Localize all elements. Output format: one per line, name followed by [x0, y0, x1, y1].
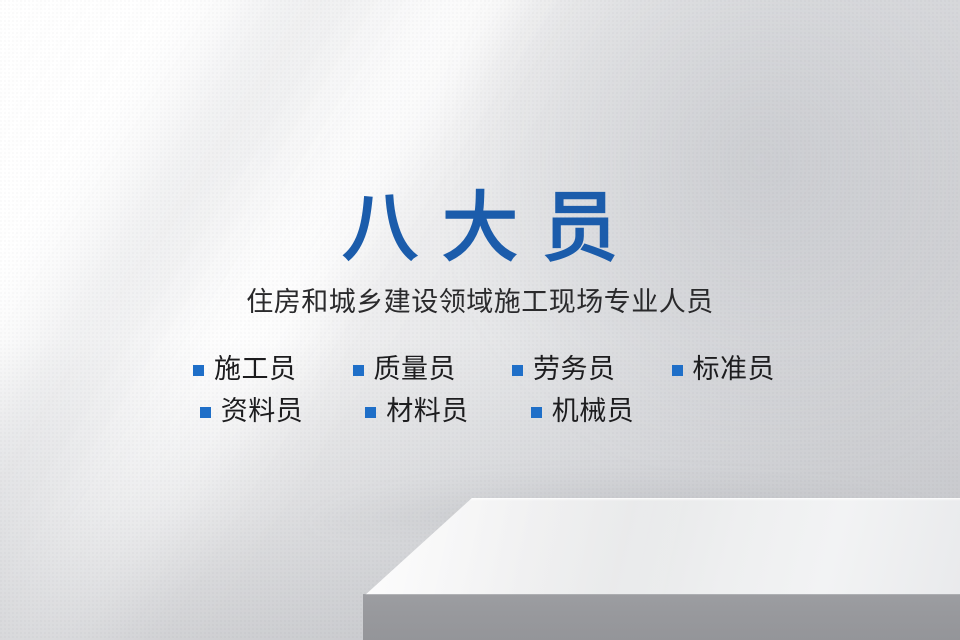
role-label: 资料员 — [221, 398, 304, 425]
role-label: 机械员 — [552, 398, 635, 425]
role-item-biaozhunyuan: 标准员 — [672, 356, 776, 383]
role-label: 施工员 — [214, 356, 297, 383]
role-row-1: 施工员 质量员 劳务员 标准员 — [0, 348, 960, 390]
role-item-zhiliangyuan: 质量员 — [353, 356, 457, 383]
square-bullet-icon — [365, 407, 376, 418]
role-item-jixieyuan: 机械员 — [531, 398, 635, 425]
role-label: 劳务员 — [533, 356, 616, 383]
poster-subtitle: 住房和城乡建设领域施工现场专业人员 — [0, 286, 960, 320]
poster-content: 八大员 住房和城乡建设领域施工现场专业人员 施工员 质量员 劳务员 — [0, 0, 960, 470]
role-item-laowuyuan: 劳务员 — [512, 356, 616, 383]
square-bullet-icon — [512, 365, 523, 376]
role-label: 材料员 — [386, 398, 469, 425]
role-label: 质量员 — [374, 356, 457, 383]
role-item-cailiaoyuan: 材料员 — [365, 398, 469, 425]
poster-canvas: 八大员 住房和城乡建设领域施工现场专业人员 施工员 质量员 劳务员 — [0, 0, 960, 640]
podium-top-edge-line — [355, 498, 960, 597]
role-item-ziliaoyuan: 资料员 — [200, 398, 304, 425]
role-item-shigongyuan: 施工员 — [193, 356, 297, 383]
podium-front-face — [363, 595, 960, 640]
podium-platform — [355, 498, 960, 640]
role-label: 标准员 — [693, 356, 776, 383]
poster-title: 八大员 — [0, 190, 960, 266]
role-row-2: 资料员 材料员 机械员 — [0, 390, 960, 432]
square-bullet-icon — [672, 365, 683, 376]
square-bullet-icon — [353, 365, 364, 376]
square-bullet-icon — [531, 407, 542, 418]
square-bullet-icon — [193, 365, 204, 376]
role-list: 施工员 质量员 劳务员 标准员 资料员 — [0, 348, 960, 432]
square-bullet-icon — [200, 407, 211, 418]
